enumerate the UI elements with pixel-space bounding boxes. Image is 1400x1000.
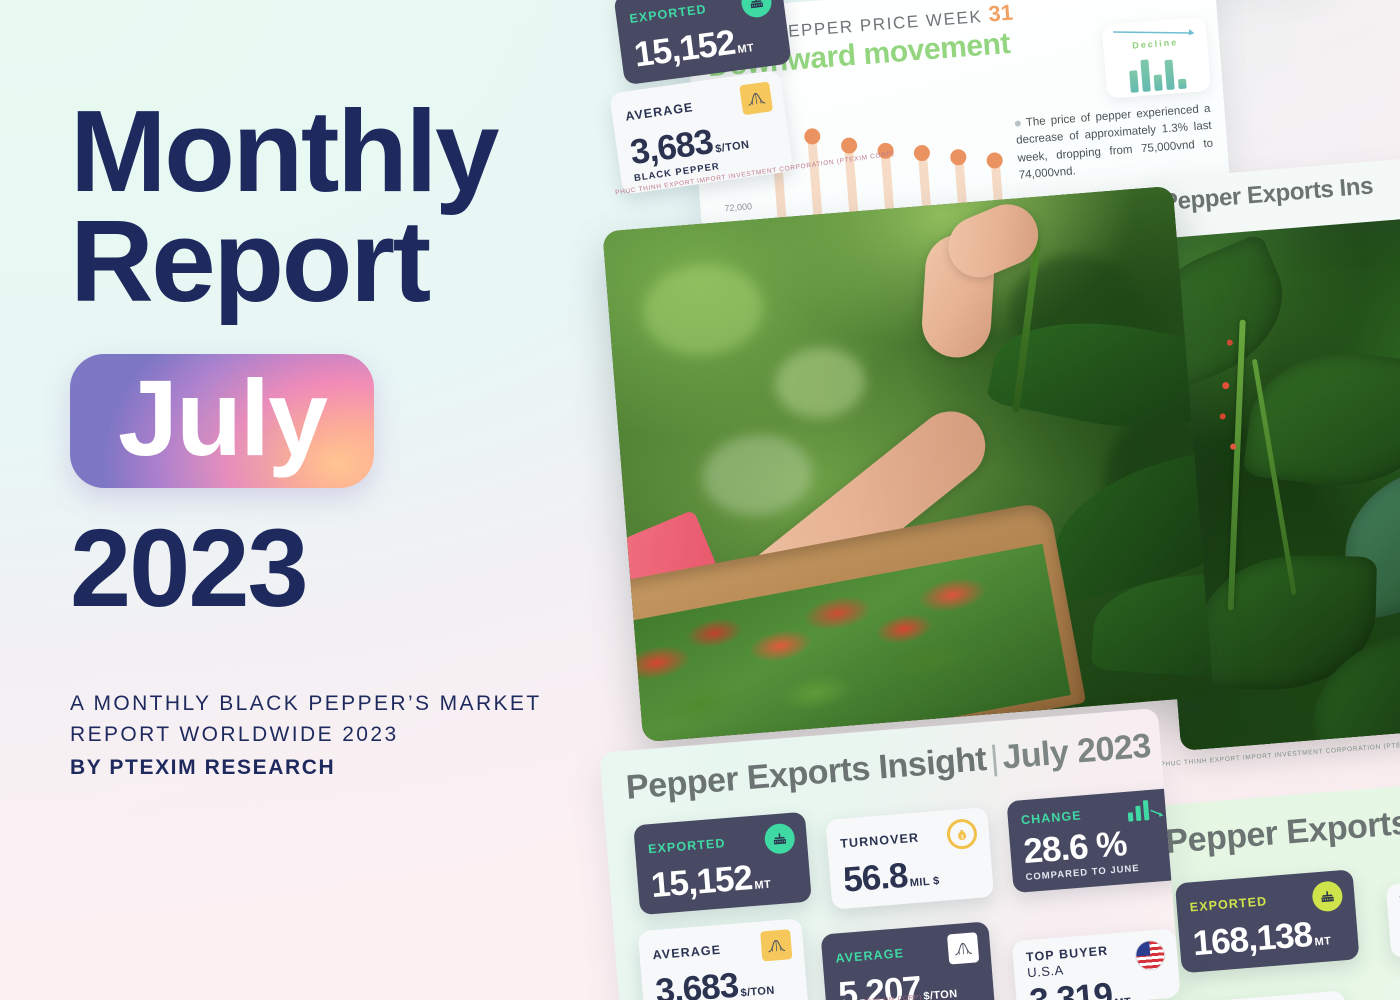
kpi-number: 3,319	[1028, 976, 1113, 1000]
insight-period: July 2023	[1001, 727, 1152, 777]
kpi-card-average-black-pepper: AVERAGE 3,683$/TON BLACK PEPPER	[638, 918, 810, 1000]
kpi-label: TURNOVER	[840, 831, 920, 851]
kpi-unit: $/TON	[715, 139, 751, 156]
kpi-value: 168,138MT	[1191, 914, 1346, 963]
kpi-card-average-white-pepper: AVERAGE 5,207$/TON WHITE PEPPER	[821, 921, 997, 1000]
kpi-number: 3,683	[654, 966, 739, 1000]
kpi-unit: $/TON	[923, 988, 958, 1000]
bell-curve-icon	[760, 929, 792, 961]
insight-title-separator: |	[989, 739, 1000, 778]
price-week-number: 31	[988, 0, 1014, 26]
kpi-unit: MT	[737, 42, 755, 56]
kpi-label: CHANGE	[1020, 808, 1082, 827]
kpi-card-exported: EXPORTED 15,152MT	[633, 812, 812, 915]
cover-subtitle-block: A MONTHLY BLACK PEPPER’S MARKET REPORT W…	[70, 688, 630, 779]
insight-title-partial: Pepper Exports Ins	[1161, 172, 1374, 217]
right-stats-page: EXPORTED 15,152MT AVERAGE 3,683$/TON BLA…	[588, 0, 872, 213]
kpi-number: 168,138	[1191, 915, 1313, 963]
decline-mini-bars	[1112, 51, 1203, 94]
kpi-card-turnover: TURNOVER 542,	[1386, 870, 1400, 958]
y-tick-label: 72,000	[724, 201, 752, 213]
kpi-label: EXPORTED	[1189, 894, 1267, 914]
subtitle-line-1: A MONTHLY BLACK PEPPER’S MARKET	[70, 688, 630, 719]
kpi-label: AVERAGE	[835, 946, 904, 965]
price-note-text: The price of pepper experienced a decrea…	[1016, 103, 1214, 182]
insight-title: Pepper Exports Ins	[1164, 793, 1400, 862]
ship-container-icon	[740, 0, 774, 19]
year-label: 2023	[70, 514, 630, 624]
bar-chart-down-icon	[1127, 799, 1166, 822]
kpi-value: 56.8MIL $	[842, 852, 982, 900]
page-title: Monthly Report	[70, 96, 630, 316]
kpi-grid-right: EXPORTED 168,138MT TURNOVER 542,	[1168, 846, 1400, 1000]
poster-canvas: Monthly Report July 2023 A MONTHLY BLACK…	[0, 0, 1400, 1000]
insight-page-main: Pepper Exports Insight|July 2023 EXPORTE…	[599, 708, 1180, 1000]
byline: BY PTEXIM RESEARCH	[70, 756, 630, 780]
bell-curve-icon	[739, 81, 773, 115]
ship-container-icon	[1311, 880, 1343, 912]
kpi-value: 3,683$/TON	[654, 963, 795, 1000]
kpi-unit: MT	[754, 879, 772, 892]
kpi-unit: $/TON	[740, 985, 775, 1000]
kpi-unit: MT	[1114, 996, 1132, 1000]
kpi-value: 15,152MT	[650, 856, 799, 904]
report-pages-collage: BLACK PEPPER PRICE WEEK 31 Downward move…	[600, 0, 1400, 1000]
kpi-unit: MIL $	[909, 875, 940, 889]
kpi-card-change: CHANGE 28.6 % COMPARED TO JUNE	[1006, 788, 1180, 893]
bell-curve-icon	[947, 932, 979, 964]
kpi-grid-main: EXPORTED 15,152MT TURNOVER $	[629, 780, 1159, 1000]
pepper-harvest-photo	[602, 186, 1213, 742]
kpi-card-turnover: TURNOVER $ 56.8MIL $	[825, 807, 994, 909]
kpi-card-average: AVERAGE	[1194, 990, 1347, 1000]
svg-text:$: $	[961, 835, 964, 841]
kpi-unit: MT	[1314, 935, 1332, 948]
subtitle-line-2: REPORT WORLDWIDE 2023	[70, 719, 630, 750]
cover-text-block: Monthly Report July 2023 A MONTHLY BLACK…	[70, 96, 630, 780]
kpi-card-average-black-pepper: AVERAGE 3,683$/TON BLACK PEPPER	[609, 70, 793, 195]
kpi-label: EXPORTED	[648, 836, 726, 856]
title-line-2: Report	[70, 206, 630, 316]
month-label: July	[118, 364, 326, 472]
decline-indicator-chip: Decline	[1102, 17, 1211, 99]
kpi-label: EXPORTED	[629, 2, 708, 26]
money-bag-icon: $	[946, 818, 978, 850]
kpi-number: 15,152	[650, 858, 754, 905]
month-badge: July	[70, 354, 374, 488]
kpi-card-top-buyer: TOP BUYER U.S.A 3,319MT	[1012, 928, 1181, 1000]
kpi-label: AVERAGE	[624, 100, 694, 123]
kpi-card-exported: EXPORTED 168,138MT	[1175, 869, 1360, 973]
ship-container-icon	[764, 823, 796, 855]
kpi-number: 56.8	[842, 856, 909, 900]
kpi-label: AVERAGE	[652, 943, 721, 962]
usa-flag-icon	[1134, 939, 1166, 971]
bullet-dot-icon	[1015, 120, 1021, 126]
